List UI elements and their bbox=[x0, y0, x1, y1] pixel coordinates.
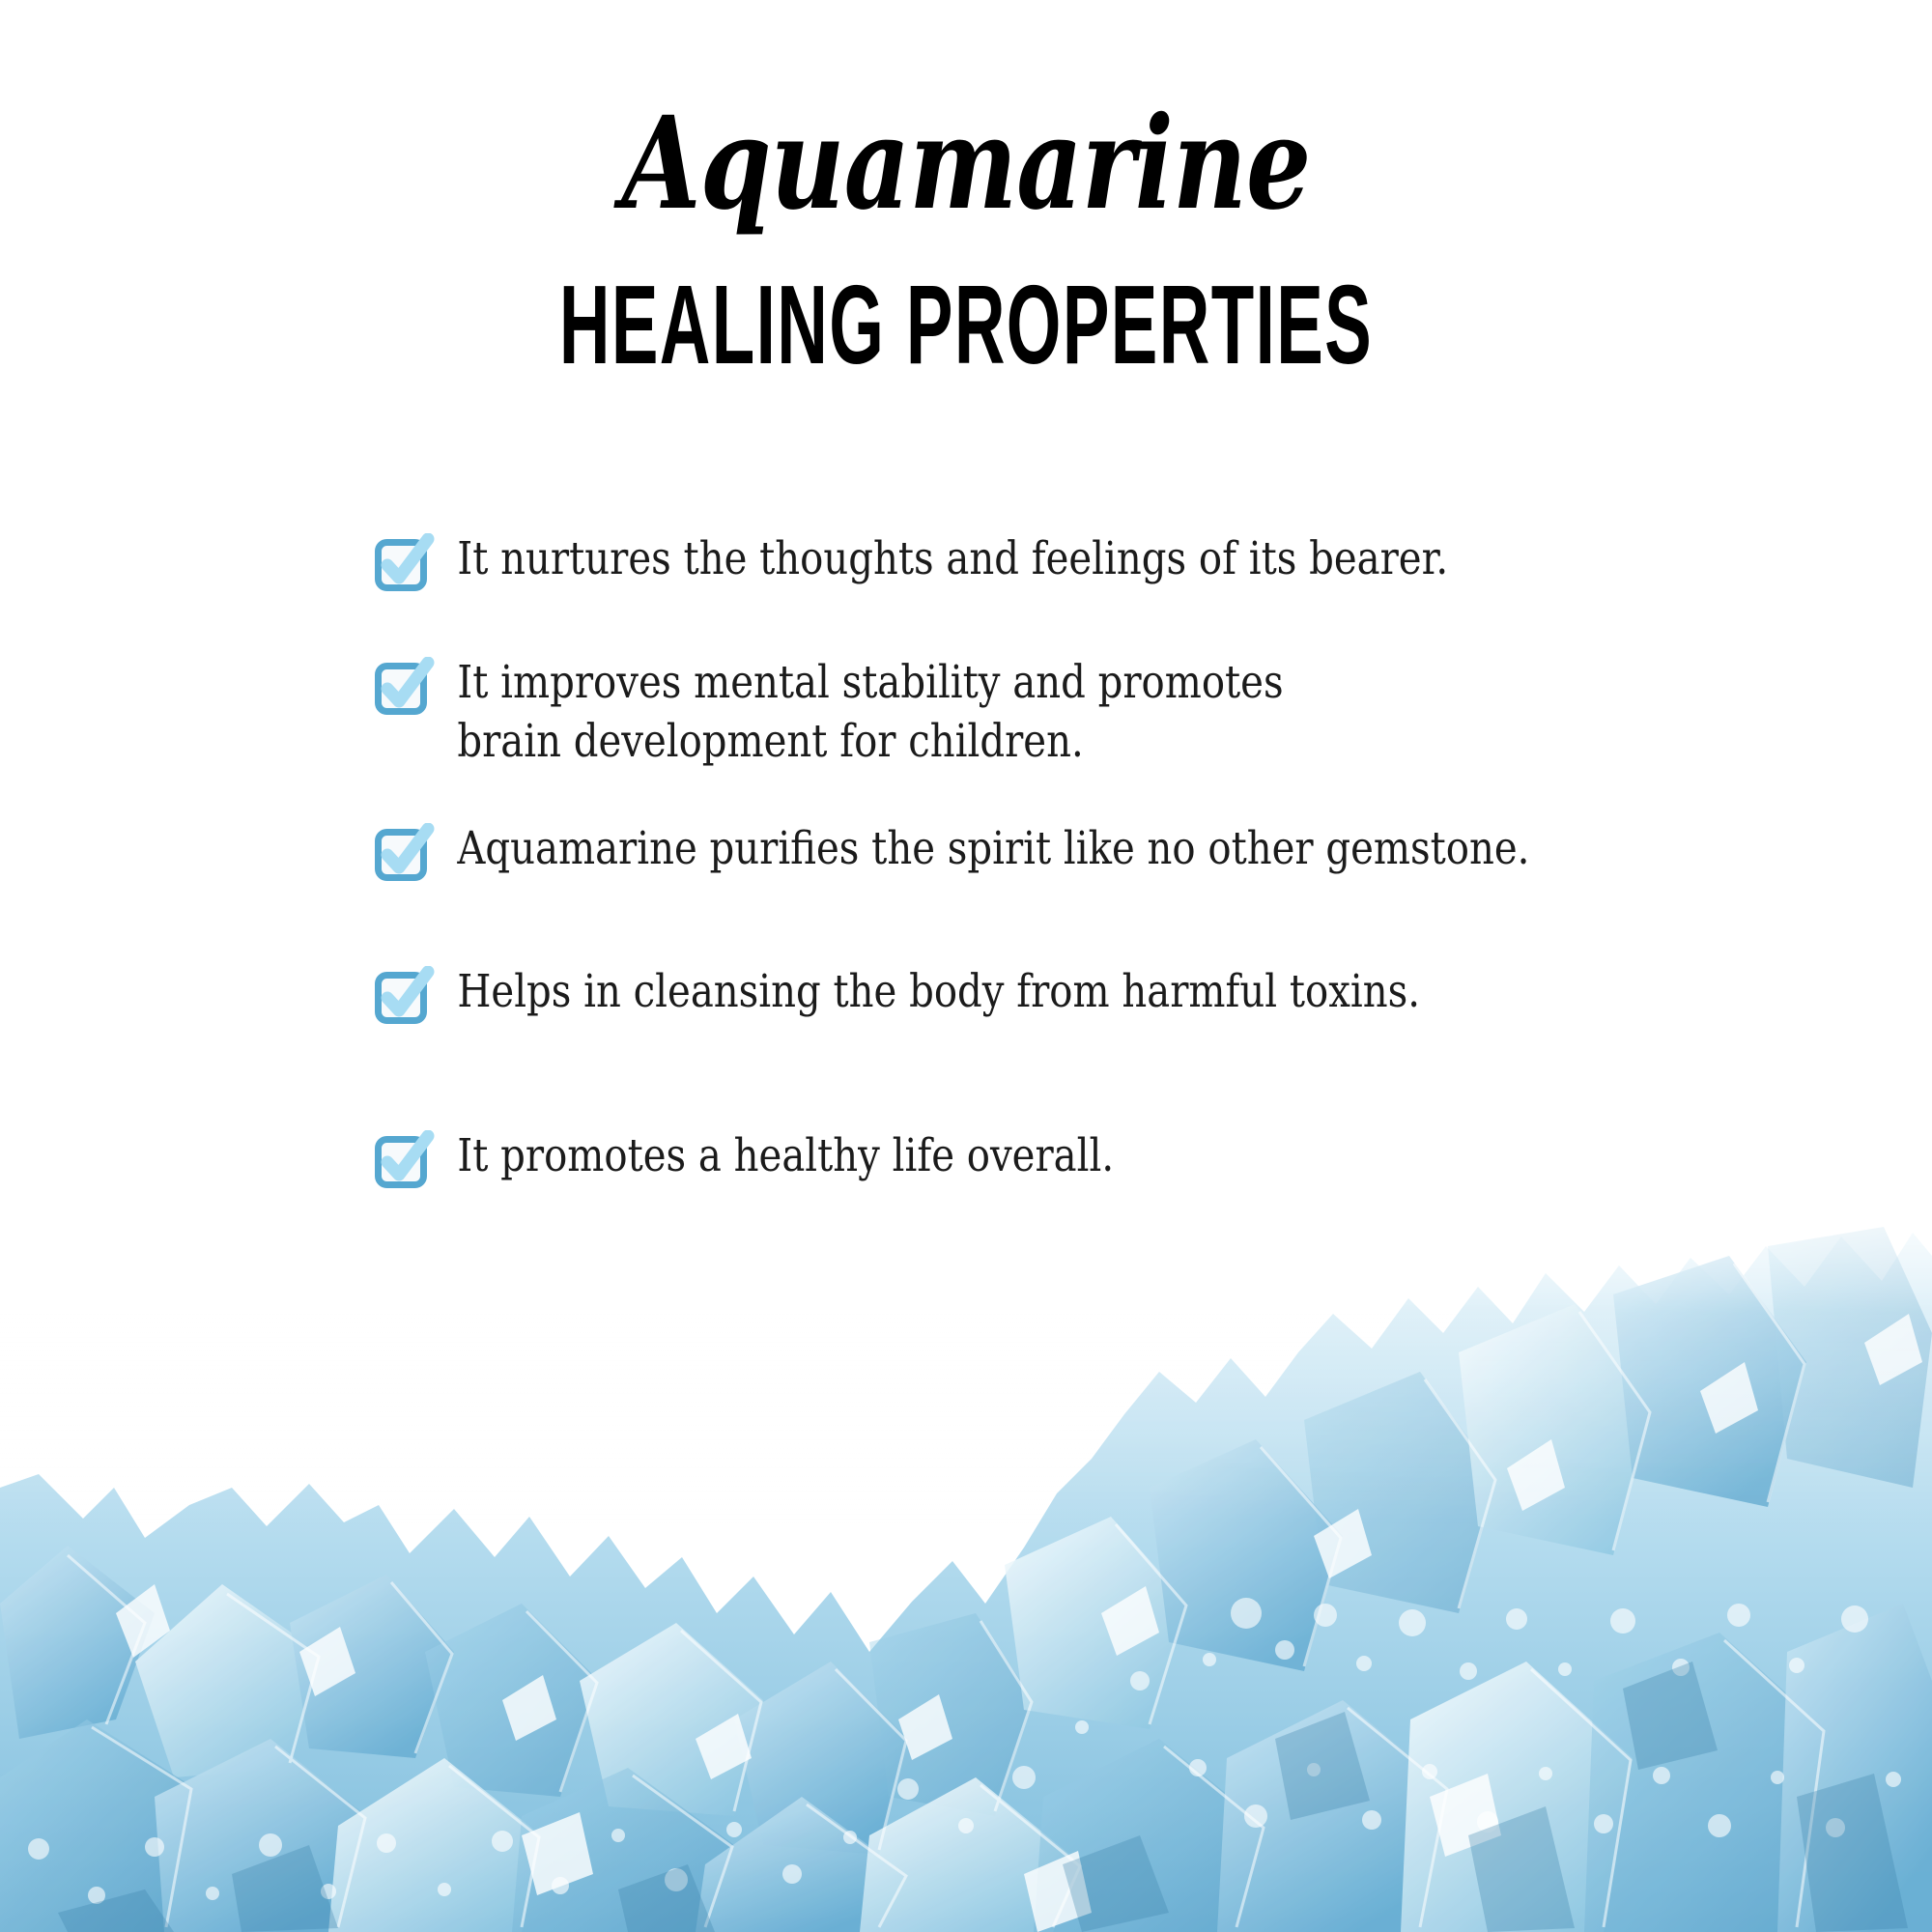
list-item-label: It improves mental stability and promote… bbox=[437, 653, 1605, 771]
list-item-label: It promotes a healthy life overall. bbox=[437, 1126, 1605, 1185]
checkbox-checked-icon[interactable] bbox=[373, 533, 437, 597]
checkbox-checked-icon[interactable] bbox=[373, 823, 437, 887]
list-item: It improves mental stability and promote… bbox=[373, 653, 1803, 771]
list-item: It nurtures the thoughts and feelings of… bbox=[373, 529, 1803, 597]
checkbox-checked-icon[interactable] bbox=[373, 1130, 437, 1194]
checkbox-checked-icon[interactable] bbox=[373, 966, 437, 1030]
list-item: Aquamarine purifies the spirit like no o… bbox=[373, 819, 1803, 887]
checkbox-checked-icon[interactable] bbox=[373, 657, 437, 721]
ice-base-silhouette bbox=[0, 1233, 1932, 1932]
crushed-ice-photo bbox=[0, 1198, 1932, 1932]
page-subtitle: HEALING PROPERTIES bbox=[290, 228, 1642, 382]
list-item-label: Aquamarine purifies the spirit like no o… bbox=[437, 819, 1605, 878]
list-item: It promotes a healthy life overall. bbox=[373, 1126, 1803, 1194]
ice-facet-highlights bbox=[68, 1264, 1824, 1927]
ice-air-bubbles bbox=[28, 1598, 1901, 1904]
poster-canvas: Aquamarine HEALING PROPERTIES It nurture… bbox=[0, 0, 1932, 1932]
page-title: Aquamarine bbox=[193, 100, 1739, 228]
ice-top-fade bbox=[0, 1198, 1932, 1526]
list-item: Helps in cleansing the body from harmful… bbox=[373, 962, 1803, 1030]
ice-shadow-pockets bbox=[58, 1662, 1908, 1932]
list-item-label: It nurtures the thoughts and feelings of… bbox=[437, 529, 1605, 588]
ice-chunk-layer-front bbox=[0, 1604, 1932, 1932]
ice-chunk-layer-mid bbox=[0, 1227, 1932, 1855]
ice-glints bbox=[116, 1314, 1922, 1932]
list-item-label: Helps in cleansing the body from harmful… bbox=[437, 962, 1605, 1021]
poster-header: Aquamarine HEALING PROPERTIES bbox=[0, 0, 1932, 365]
